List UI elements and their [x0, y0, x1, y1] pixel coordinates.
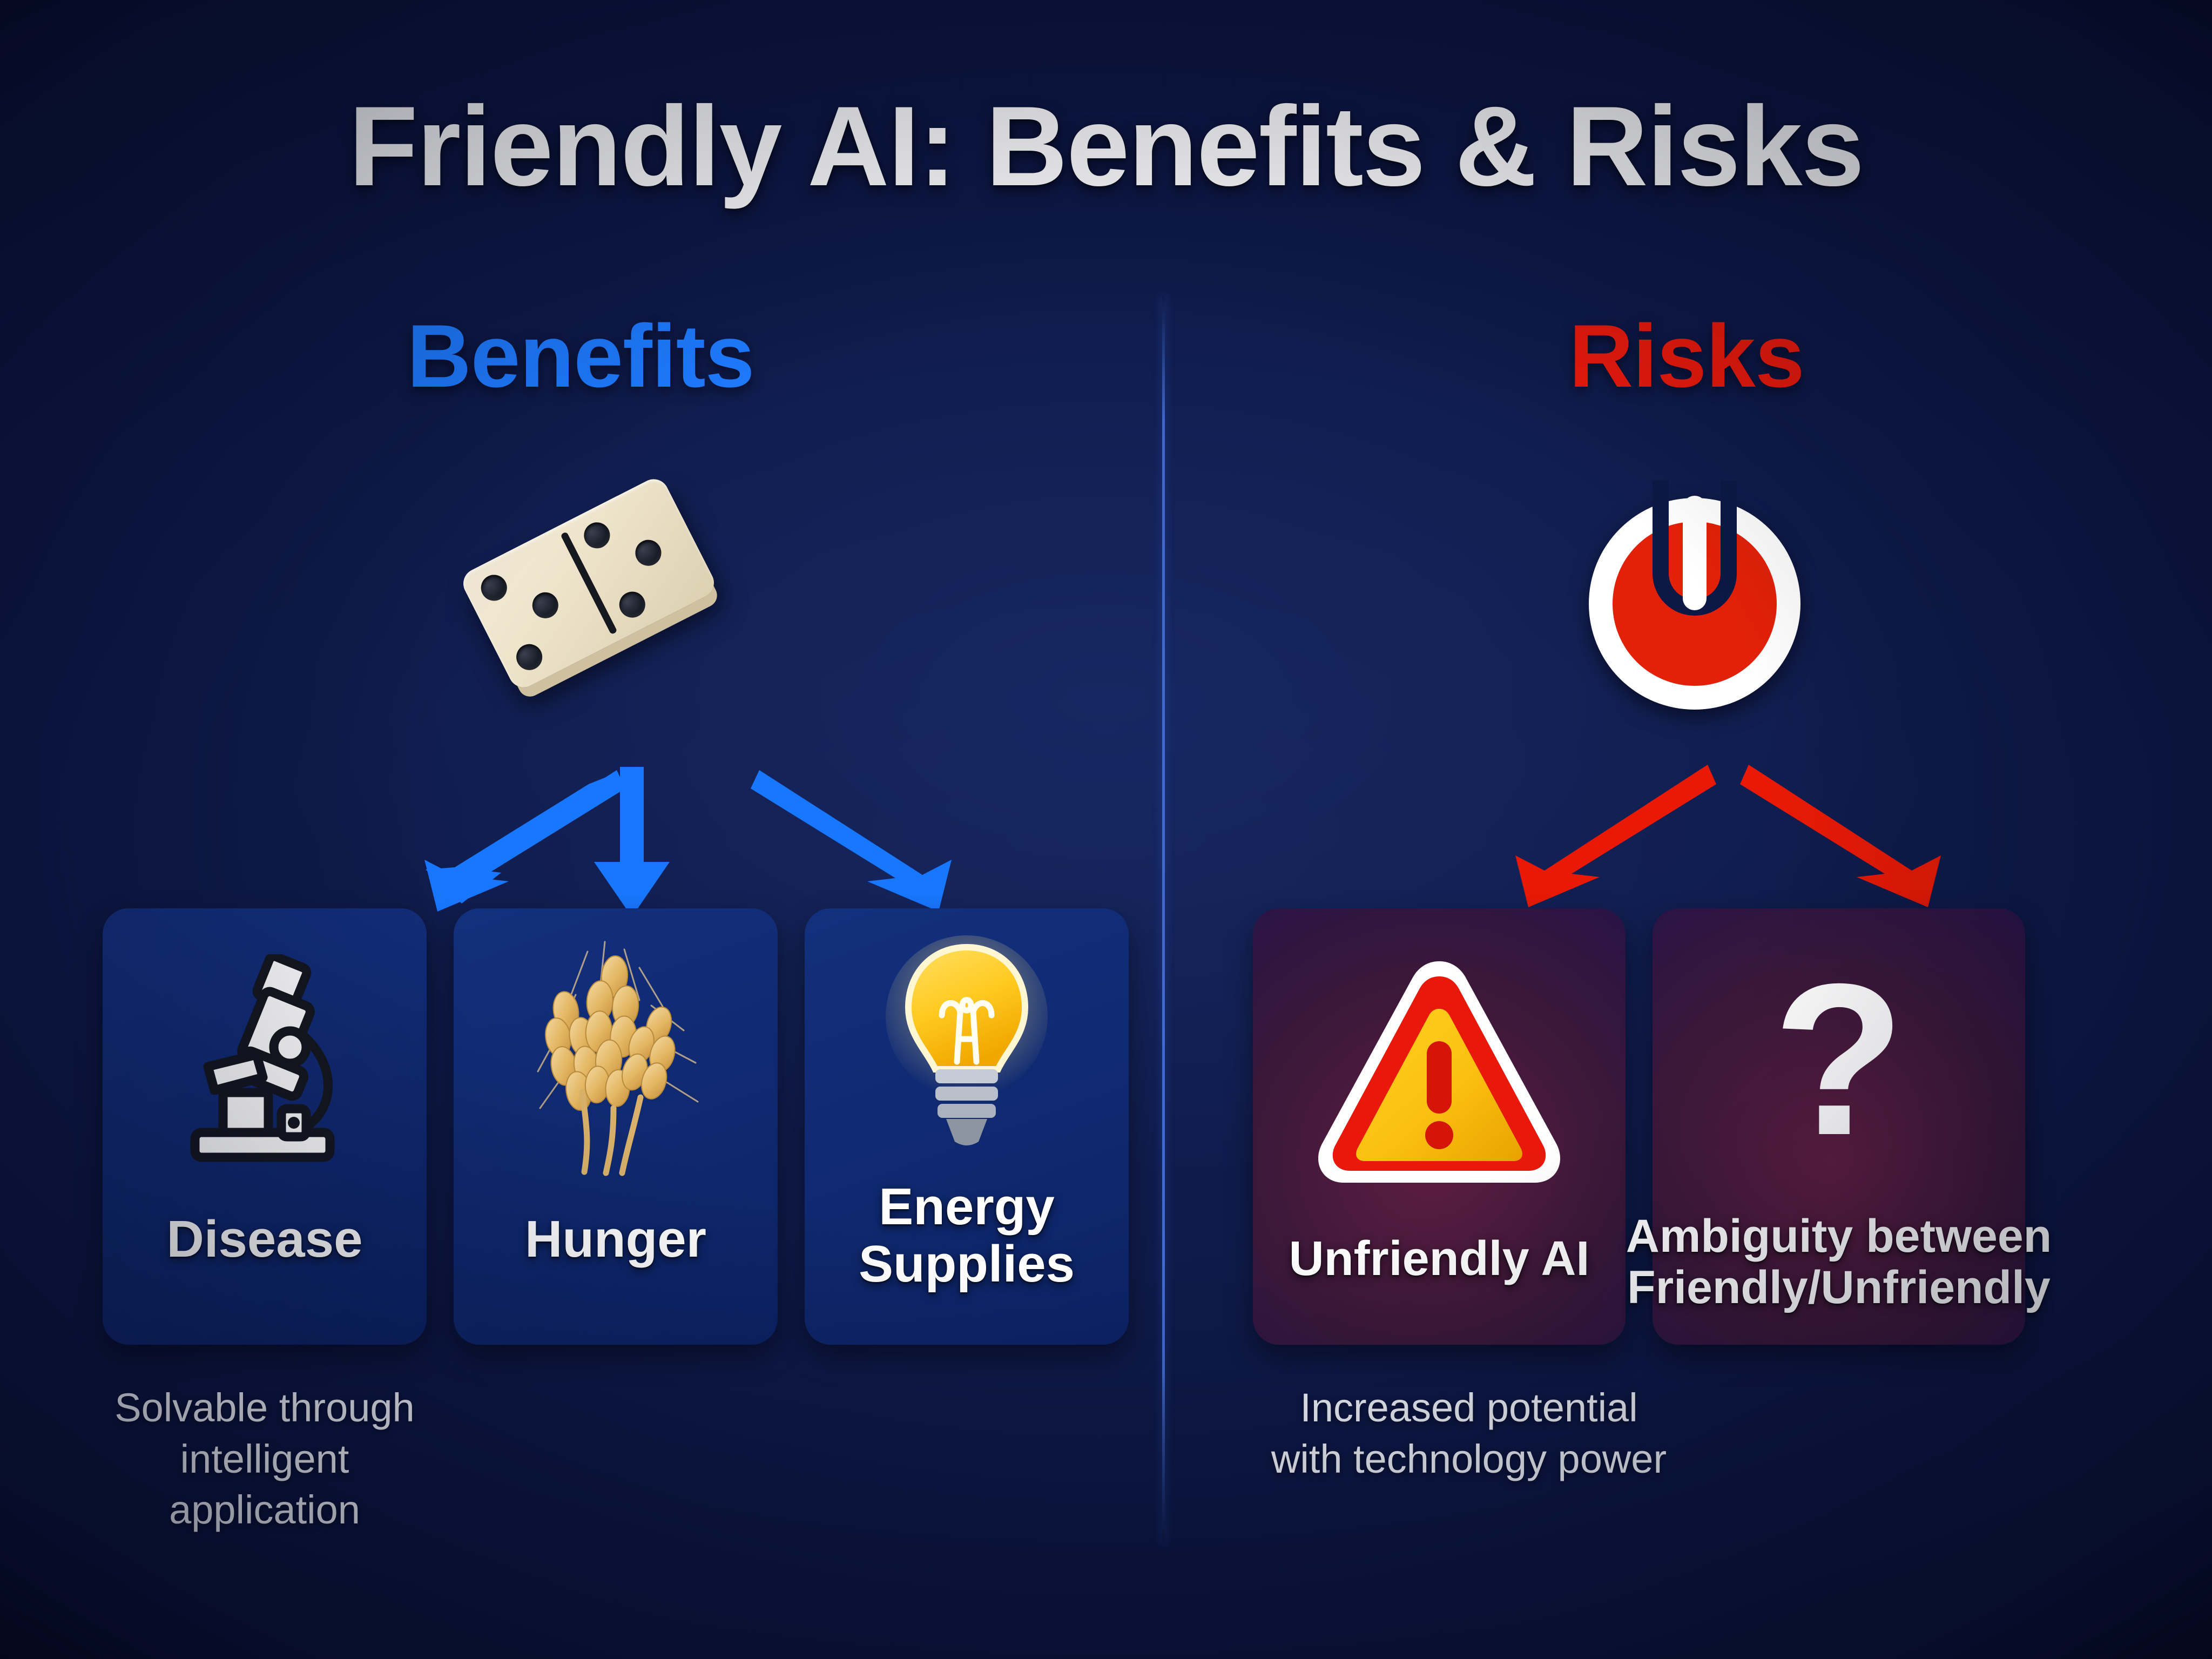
benefit-arrow-center: [589, 767, 675, 918]
benefit-card-hunger-label: Hunger: [444, 1211, 787, 1268]
benefit-card-disease-label: Disease: [93, 1211, 436, 1268]
risk-arrow-right: [1723, 761, 1950, 913]
question-mark-icon: ?: [1653, 930, 2025, 1189]
benefits-caption: Solvable through intelligent application: [65, 1382, 464, 1536]
benefit-card-energy-label: Energy Supplies: [795, 1178, 1138, 1292]
microscope-icon: [103, 946, 427, 1178]
risk-arrow-left: [1507, 761, 1734, 913]
benefit-card-disease[interactable]: Disease: [103, 908, 427, 1345]
benefit-card-energy[interactable]: Energy Supplies: [805, 908, 1129, 1345]
risk-card-ambiguity-label: Ambiguity between Friendly/Unfriendly: [1555, 1211, 2122, 1313]
section-divider: [1162, 296, 1165, 1543]
page-title: Friendly AI: Benefits & Risks: [0, 81, 2212, 212]
risks-heading: Risks: [1161, 305, 2212, 407]
benefits-heading: Benefits: [0, 305, 1161, 407]
light-bulb-icon: [805, 935, 1129, 1151]
risk-card-ambiguity[interactable]: ? Ambiguity between Friendly/Unfriendly: [1653, 908, 2025, 1345]
benefit-card-hunger[interactable]: Hunger: [454, 908, 778, 1345]
warning-triangle-icon: [1253, 946, 1626, 1200]
power-button-icon: [1577, 475, 1815, 713]
wheat-icon: [454, 930, 778, 1184]
benefit-arrow-right: [751, 767, 1004, 918]
slide-canvas: Friendly AI: Benefits & Risks Benefits: [0, 0, 2212, 1659]
risks-caption: Increased potential with technology powe…: [1247, 1382, 1690, 1485]
domino-icon: [454, 486, 734, 724]
